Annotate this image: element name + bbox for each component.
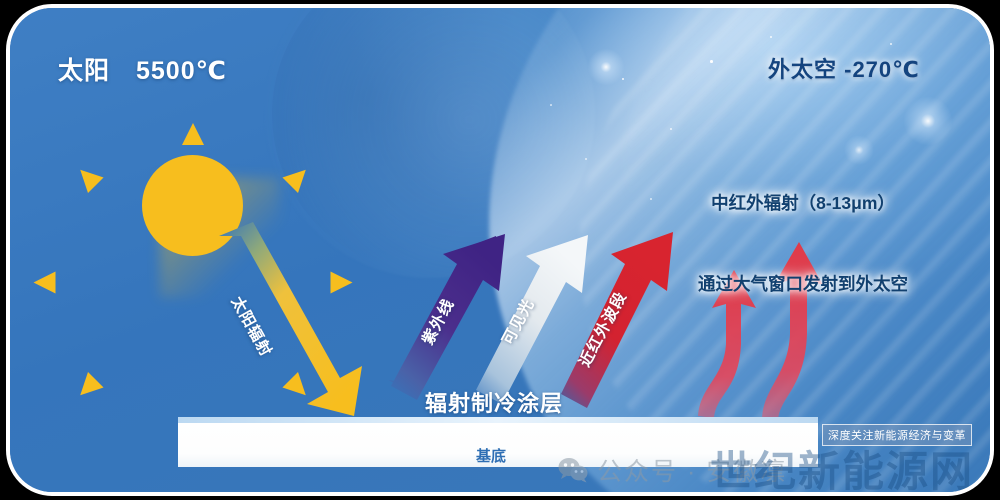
mid-ir-line-2: 通过大气窗口发射到外太空 [698,271,908,298]
coating-label: 辐射制冷涂层 [425,386,563,418]
mid-ir-description: 中红外辐射（8-13μm） 通过大气窗口发射到外太空 [698,136,908,352]
mid-ir-line-1: 中红外辐射（8-13μm） [698,190,908,217]
site-watermark-cn: 世纪新能源网 [710,438,974,496]
site-watermark: 世纪新能源网 Century new energy network [710,438,974,496]
site-tagline: 深度关注新能源经济与变革 [822,424,972,446]
outer-space-temperature-label: 外太空 -270℃ [768,52,920,84]
wechat-icon [558,457,588,483]
infographic-card: 太阳辐射 紫外线 可见光 近红外波段 基底 太阳 5500℃ 外太空 -270℃… [6,4,994,496]
substrate-label: 基底 [476,445,506,466]
site-watermark-en: Century new energy network [710,495,974,496]
radiative-cooling-infographic: 太阳辐射 紫外线 可见光 近红外波段 基底 太阳 5500℃ 外太空 -270℃… [0,0,1000,500]
sun-temperature-label: 太阳 5500℃ [58,51,227,87]
